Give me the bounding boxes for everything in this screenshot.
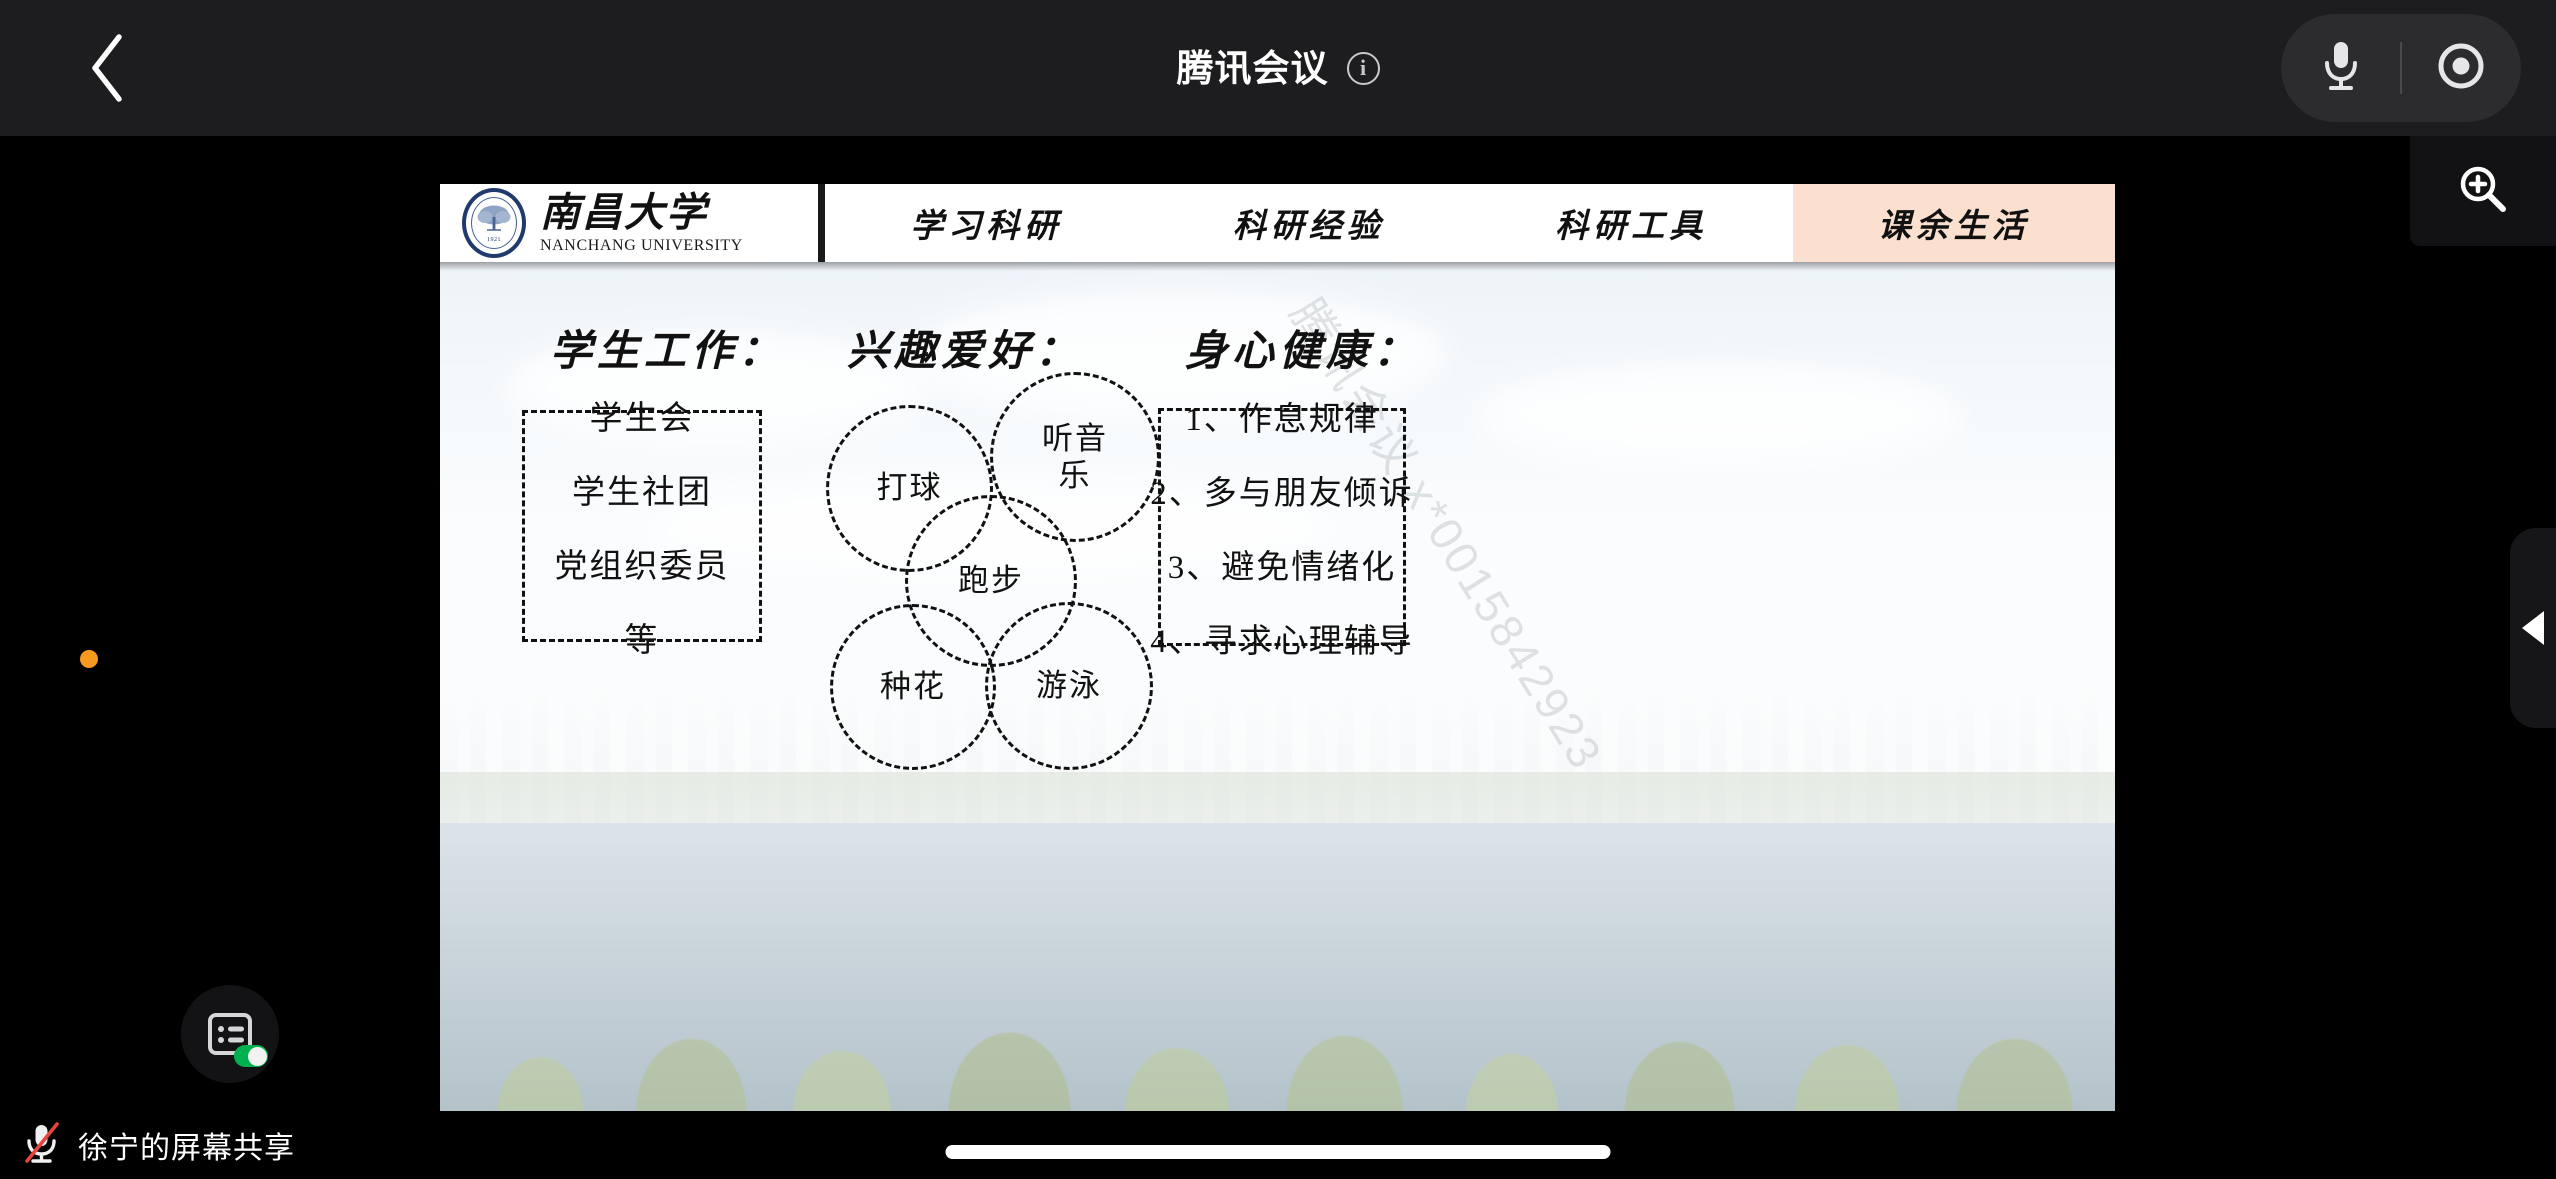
notes-toggle-switch[interactable] — [234, 1045, 268, 1067]
slide-tabs: 学习科研 科研经验 科研工具 课余生活 — [825, 184, 2115, 262]
box-health: 1、作息规律 2、多与朋友倾诉 3、避免情绪化 4、寻求心理辅导 — [1158, 408, 1406, 646]
chevron-left-icon — [85, 31, 131, 105]
record-button[interactable] — [2402, 14, 2521, 122]
av-controls-pill — [2281, 14, 2521, 122]
magnifier-plus-icon — [2455, 161, 2511, 222]
heading-hobbies: 兴趣爱好： — [847, 317, 1082, 378]
university-seal-icon: 1921 — [462, 188, 526, 258]
title-group: 腾讯会议 i — [0, 0, 2556, 136]
university-name-cn: 南昌大学 — [540, 192, 743, 234]
sharer-status: 徐宁的屏幕共享 — [0, 1121, 295, 1170]
shared-slide: 1921 南昌大学 NANCHANG UNIVERSITY 学习科研 科研经验 … — [440, 184, 2115, 1111]
record-icon — [2435, 40, 2487, 97]
slide-content: 学生工作： 学生会 学生社团 党组织委员 等 兴趣爱好： 打球 听音乐 跑步 种… — [440, 262, 2115, 1111]
app-title: 腾讯会议 — [1177, 50, 1329, 87]
heading-student-work: 学生工作： — [550, 317, 785, 378]
header-shadow — [440, 262, 2115, 271]
slide-header: 1921 南昌大学 NANCHANG UNIVERSITY 学习科研 科研经验 … — [440, 184, 2115, 262]
top-bar: 腾讯会议 i — [0, 0, 2556, 136]
health-item: 3、避免情绪化 — [1168, 540, 1397, 588]
meeting-screen-share-view: 腾讯会议 i — [0, 0, 2556, 1179]
zoom-in-button[interactable] — [2410, 136, 2556, 246]
box-student-work: 学生会 学生社团 党组织委员 等 — [522, 410, 762, 642]
bubble-tingyinyue-label: 听音乐 — [1042, 420, 1108, 494]
brand-logo: 1921 南昌大学 NANCHANG UNIVERSITY — [440, 184, 825, 262]
bubble-youyong: 游泳 — [985, 602, 1153, 770]
health-item: 1、作息规律 — [1185, 392, 1379, 440]
tab-xuexikeyan[interactable]: 学习科研 — [825, 184, 1148, 262]
student-work-item: 学生社团 — [572, 465, 712, 513]
tab-keyushenghuo[interactable]: 课余生活 — [1793, 184, 2116, 262]
back-button[interactable] — [62, 22, 154, 114]
student-work-item: 等 — [625, 613, 660, 661]
seal-year: 1921 — [487, 237, 501, 243]
tab-keyangongju[interactable]: 科研工具 — [1470, 184, 1793, 262]
microphone-button[interactable] — [2281, 14, 2400, 122]
bubble-zhonghua: 种花 — [830, 604, 996, 770]
university-name-en: NANCHANG UNIVERSITY — [540, 237, 743, 255]
sharer-name: 徐宁的屏幕共享 — [78, 1123, 295, 1167]
heading-health: 身心健康： — [1185, 317, 1420, 378]
open-participants-drawer-button[interactable] — [2510, 528, 2556, 728]
student-work-item: 学生会 — [590, 391, 695, 439]
shared-screen-stage: 1921 南昌大学 NANCHANG UNIVERSITY 学习科研 科研经验 … — [0, 136, 2556, 1111]
info-icon[interactable]: i — [1347, 52, 1380, 85]
notes-toggle-button[interactable] — [181, 985, 279, 1083]
microphone-muted-icon — [22, 1121, 62, 1170]
health-item: 2、多与朋友倾诉 — [1150, 466, 1414, 514]
student-work-item: 党组织委员 — [555, 539, 730, 587]
tab-keyanjingyan[interactable]: 科研经验 — [1148, 184, 1471, 262]
recording-indicator-dot — [80, 650, 98, 668]
microphone-icon — [2319, 38, 2363, 99]
health-item: 4、寻求心理辅导 — [1150, 614, 1414, 662]
triangle-left-icon — [2522, 611, 2544, 645]
home-indicator[interactable] — [946, 1145, 1611, 1159]
